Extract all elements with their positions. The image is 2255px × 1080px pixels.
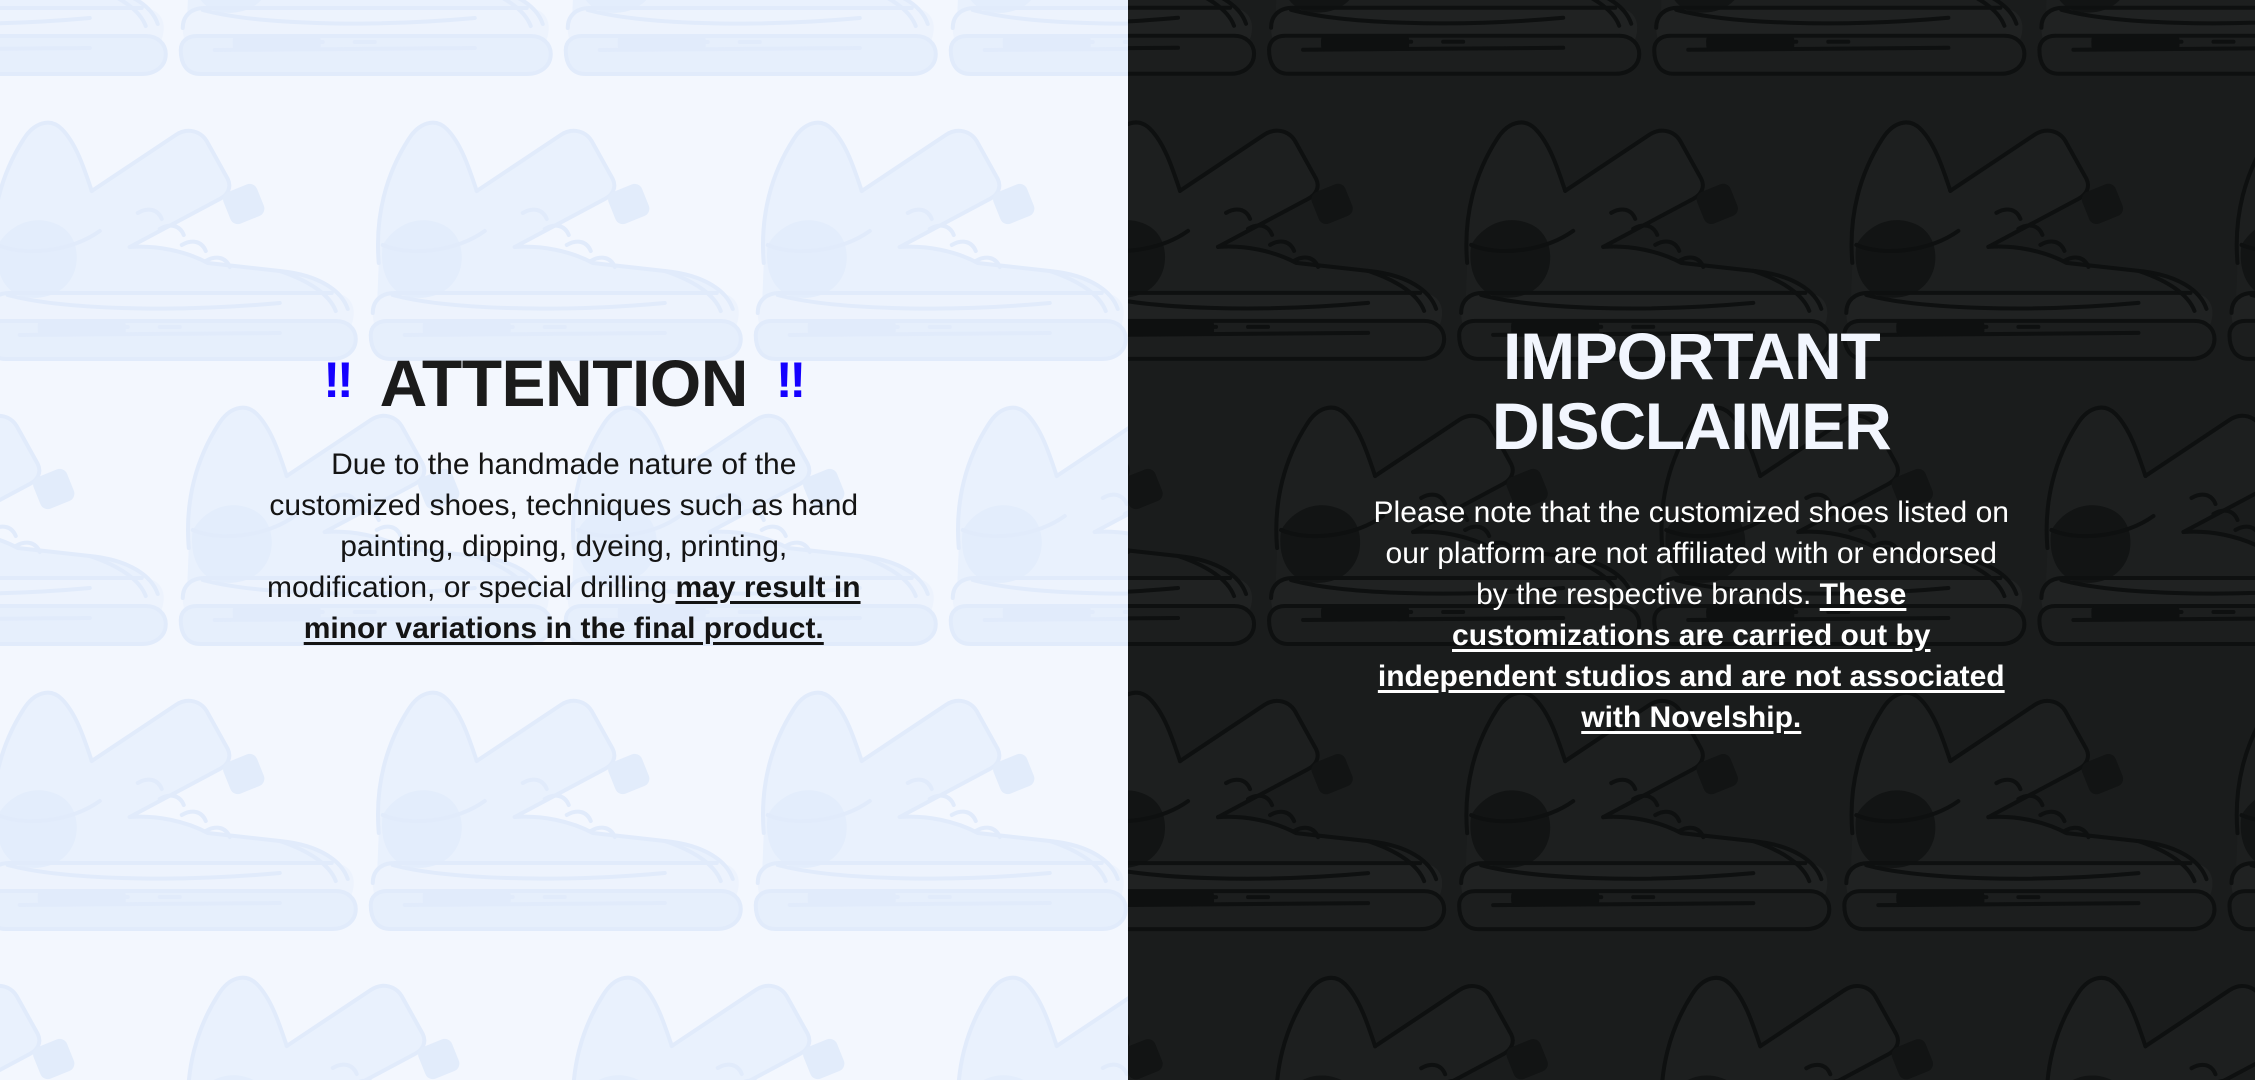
disclaimer-panel: IMPORTANT DISCLAIMER Please note that th…	[1128, 0, 2255, 1080]
double-exclamation-icon-left: ‼	[323, 355, 351, 405]
disclaimer-body: Please note that the customized shoes li…	[1371, 492, 2011, 739]
attention-content: ‼ ATTENTION ‼ Due to the handmade nature…	[0, 0, 1128, 649]
attention-heading: ‼ ATTENTION ‼	[323, 350, 804, 416]
disclaimer-content: IMPORTANT DISCLAIMER Please note that th…	[1128, 0, 2255, 738]
disclaimer-heading: IMPORTANT DISCLAIMER	[1492, 322, 1891, 462]
attention-panel: ‼ ATTENTION ‼ Due to the handmade nature…	[0, 0, 1128, 1080]
double-exclamation-icon-right: ‼	[776, 355, 804, 405]
disclaimer-body-normal: Please note that the customized shoes li…	[1374, 496, 2009, 611]
disclaimer-heading-line1: IMPORTANT	[1503, 319, 1880, 393]
attention-heading-text: ATTENTION	[380, 350, 748, 416]
disclaimer-banner: ‼ ATTENTION ‼ Due to the handmade nature…	[0, 0, 2255, 1080]
attention-body: Due to the handmade nature of the custom…	[254, 444, 874, 649]
disclaimer-heading-line2: DISCLAIMER	[1492, 389, 1891, 463]
